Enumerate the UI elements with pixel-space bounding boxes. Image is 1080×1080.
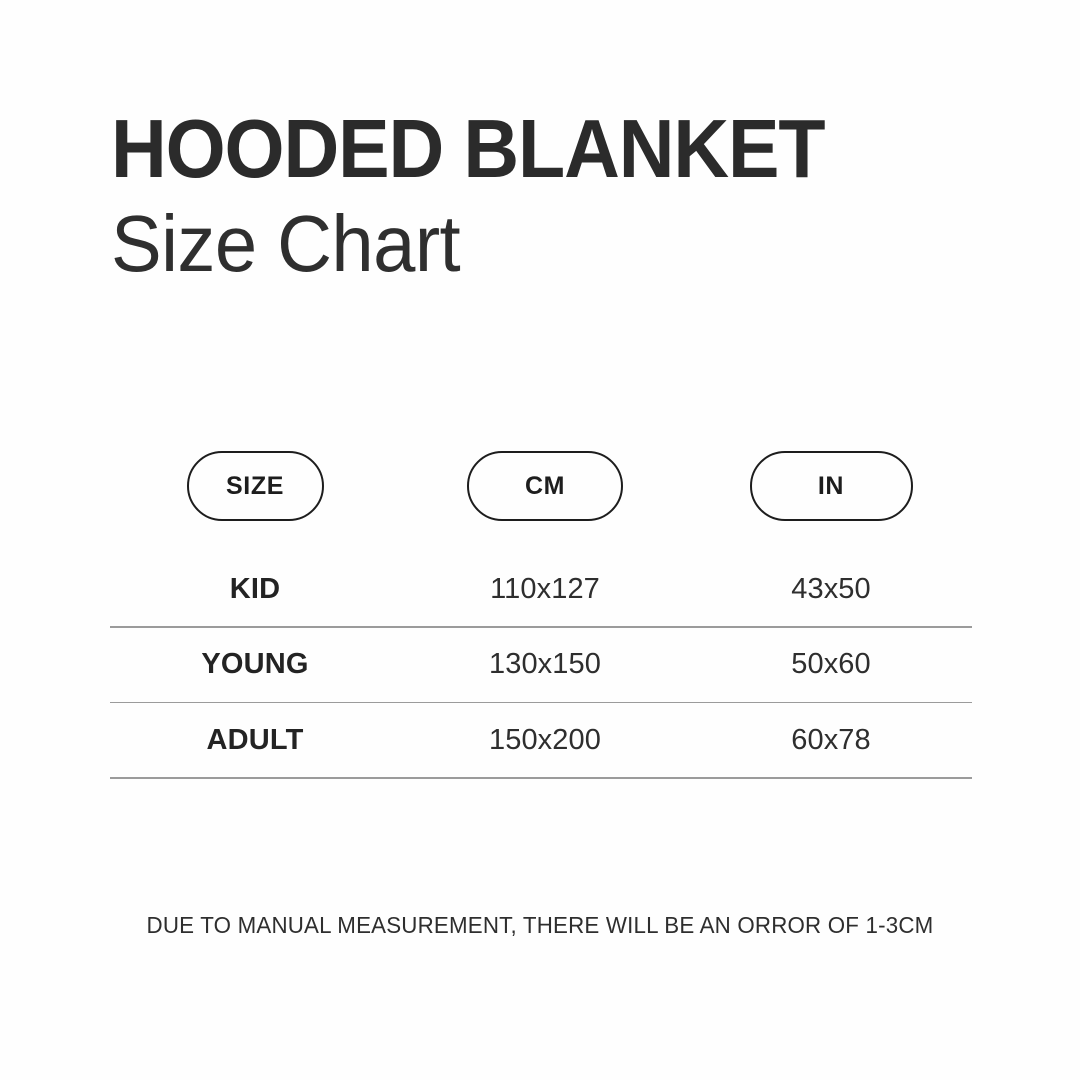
measurement-cm: 150x200 — [489, 724, 601, 757]
row-divider — [110, 777, 972, 779]
page-heading: HOODED BLANKET Size Chart — [111, 108, 991, 285]
table-header-cell-in: IN — [690, 451, 972, 521]
table-row: YOUNG 130x150 50x60 — [110, 628, 972, 702]
size-label: ADULT — [206, 724, 303, 757]
page-subtitle: Size Chart — [111, 203, 947, 285]
table-cell-size: KID — [110, 573, 400, 606]
page-title: HOODED BLANKET — [111, 108, 929, 189]
table-row: KID 110x127 43x50 — [110, 552, 972, 626]
size-label: YOUNG — [201, 648, 308, 681]
table-cell-cm: 150x200 — [400, 724, 690, 757]
table-cell-size: YOUNG — [110, 648, 400, 681]
table-header-cell-cm: CM — [400, 451, 690, 521]
size-chart-page: HOODED BLANKET Size Chart SIZE CM IN KID… — [0, 0, 1080, 1080]
size-chart-table: SIZE CM IN KID 110x127 43x50 YOUNG — [110, 440, 972, 779]
measurement-in: 50x60 — [791, 648, 871, 681]
table-header-row: SIZE CM IN — [110, 440, 972, 532]
size-label: KID — [230, 573, 281, 606]
table-cell-in: 43x50 — [690, 573, 972, 606]
table-header-cell-size: SIZE — [110, 451, 400, 521]
measurement-in: 60x78 — [791, 724, 871, 757]
column-badge-cm: CM — [467, 451, 623, 521]
table-cell-in: 60x78 — [690, 724, 972, 757]
measurement-disclaimer: DUE TO MANUAL MEASUREMENT, THERE WILL BE… — [16, 912, 1064, 939]
measurement-cm: 110x127 — [490, 573, 600, 606]
table-cell-size: ADULT — [110, 724, 400, 757]
table-cell-cm: 130x150 — [400, 648, 690, 681]
measurement-cm: 130x150 — [489, 648, 601, 681]
column-badge-in: IN — [750, 451, 913, 521]
table-row: ADULT 150x200 60x78 — [110, 703, 972, 777]
column-badge-size: SIZE — [187, 451, 324, 521]
table-cell-in: 50x60 — [690, 648, 972, 681]
measurement-in: 43x50 — [791, 573, 871, 606]
header-body-spacer — [110, 532, 972, 552]
table-cell-cm: 110x127 — [400, 573, 690, 606]
